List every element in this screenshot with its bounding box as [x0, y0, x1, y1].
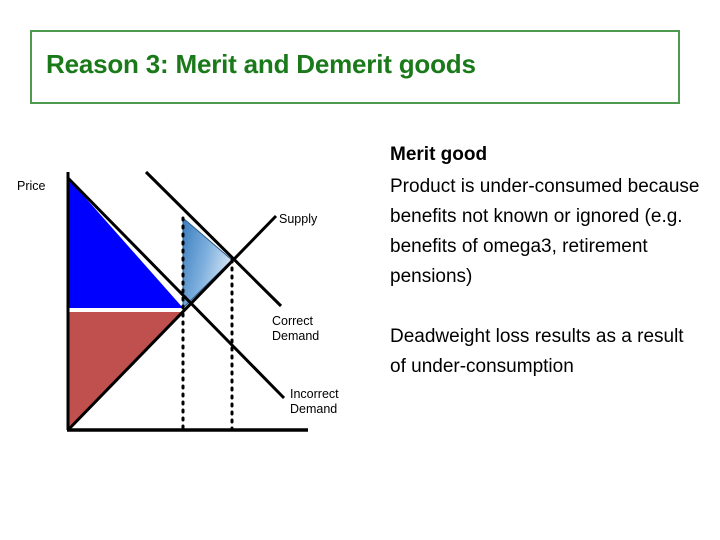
- supply-label: Supply: [279, 212, 318, 226]
- correct-demand-label-line1: Correct: [272, 314, 314, 328]
- merit-good-heading: Merit good: [390, 140, 702, 170]
- chart-svg: Price Supply Correct Demand Incorrect De…: [0, 150, 380, 450]
- incorrect-demand-label-line2: Demand: [290, 402, 337, 416]
- correct-demand-curve: [146, 172, 281, 306]
- price-axis-label: Price: [17, 179, 46, 193]
- correct-demand-label-line2: Demand: [272, 329, 319, 343]
- merit-good-description: Product is under-consumed because benefi…: [390, 172, 702, 292]
- page-title: Reason 3: Merit and Demerit goods: [46, 49, 476, 80]
- incorrect-demand-label-line1: Incorrect: [290, 387, 339, 401]
- slide-title-box: Reason 3: Merit and Demerit goods: [30, 30, 680, 104]
- content-text-panel: Merit good Product is under-consumed bec…: [390, 140, 702, 382]
- supply-demand-chart: Price Supply Correct Demand Incorrect De…: [0, 150, 380, 450]
- deadweight-loss-description: Deadweight loss results as a result of u…: [390, 322, 702, 382]
- paragraph-spacer: [390, 292, 702, 322]
